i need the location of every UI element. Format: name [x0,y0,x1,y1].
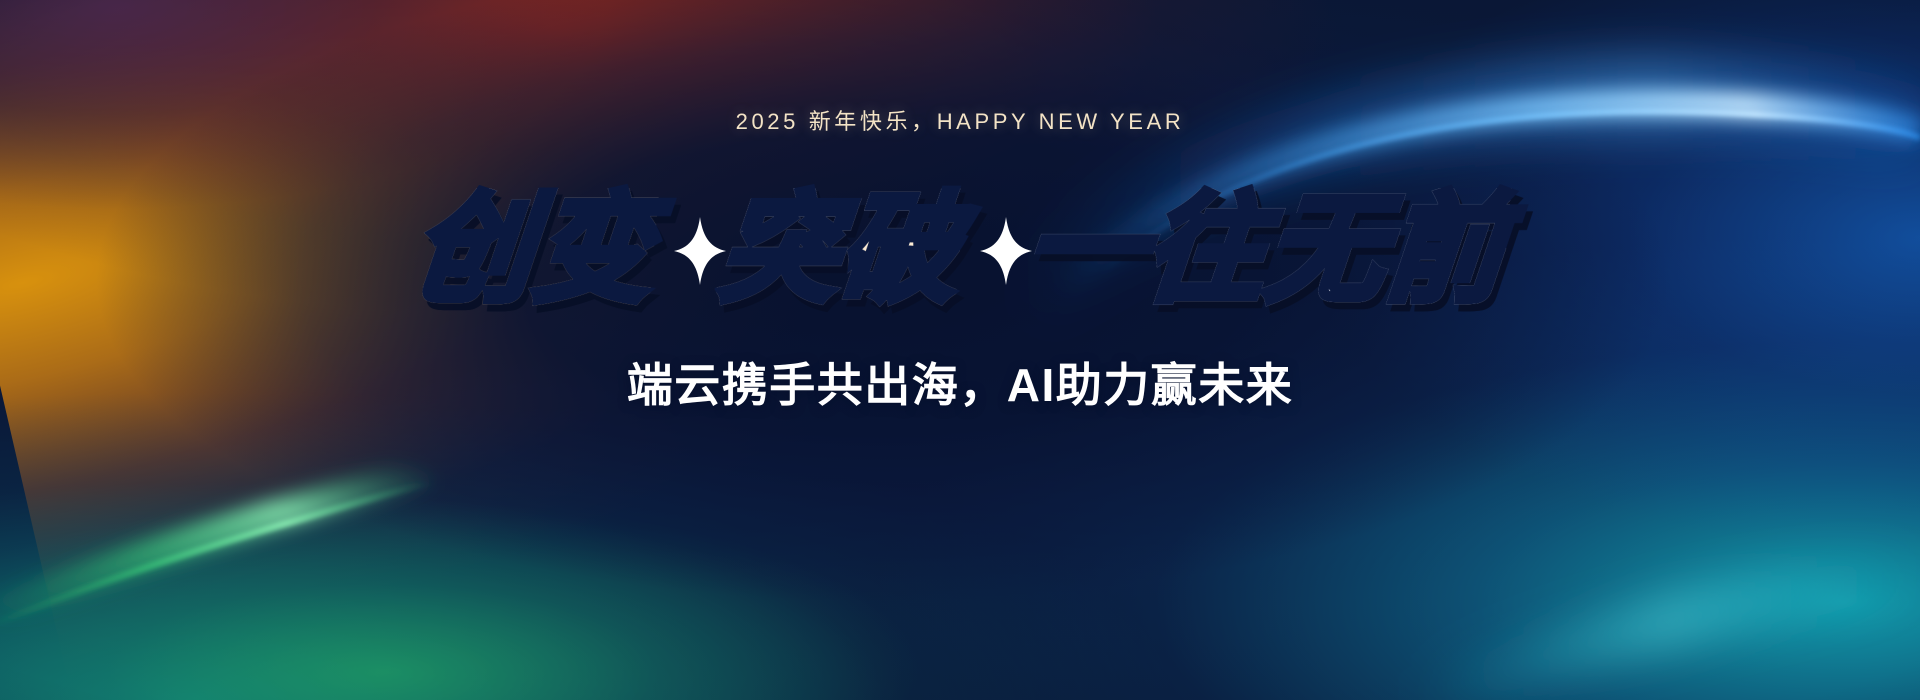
headline: 创变 突破 一往无前 [414,188,1506,313]
headline-part-yiwangwuqian: 一往无前 [1021,188,1512,313]
headline-part-chuangbian: 创变 [408,188,659,313]
headline-part-tupo: 突破 [715,188,966,313]
tagline-text: 2025 新年快乐，HAPPY NEW YEAR [736,104,1185,136]
banner-content: 2025 新年快乐，HAPPY NEW YEAR 创变 突破 一往无前 端云携手… [0,0,1920,700]
subtitle-text: 端云携手共出海，AI助力赢未来 [627,349,1294,415]
new-year-banner: 2025 新年快乐，HAPPY NEW YEAR 创变 突破 一往无前 端云携手… [0,0,1920,700]
